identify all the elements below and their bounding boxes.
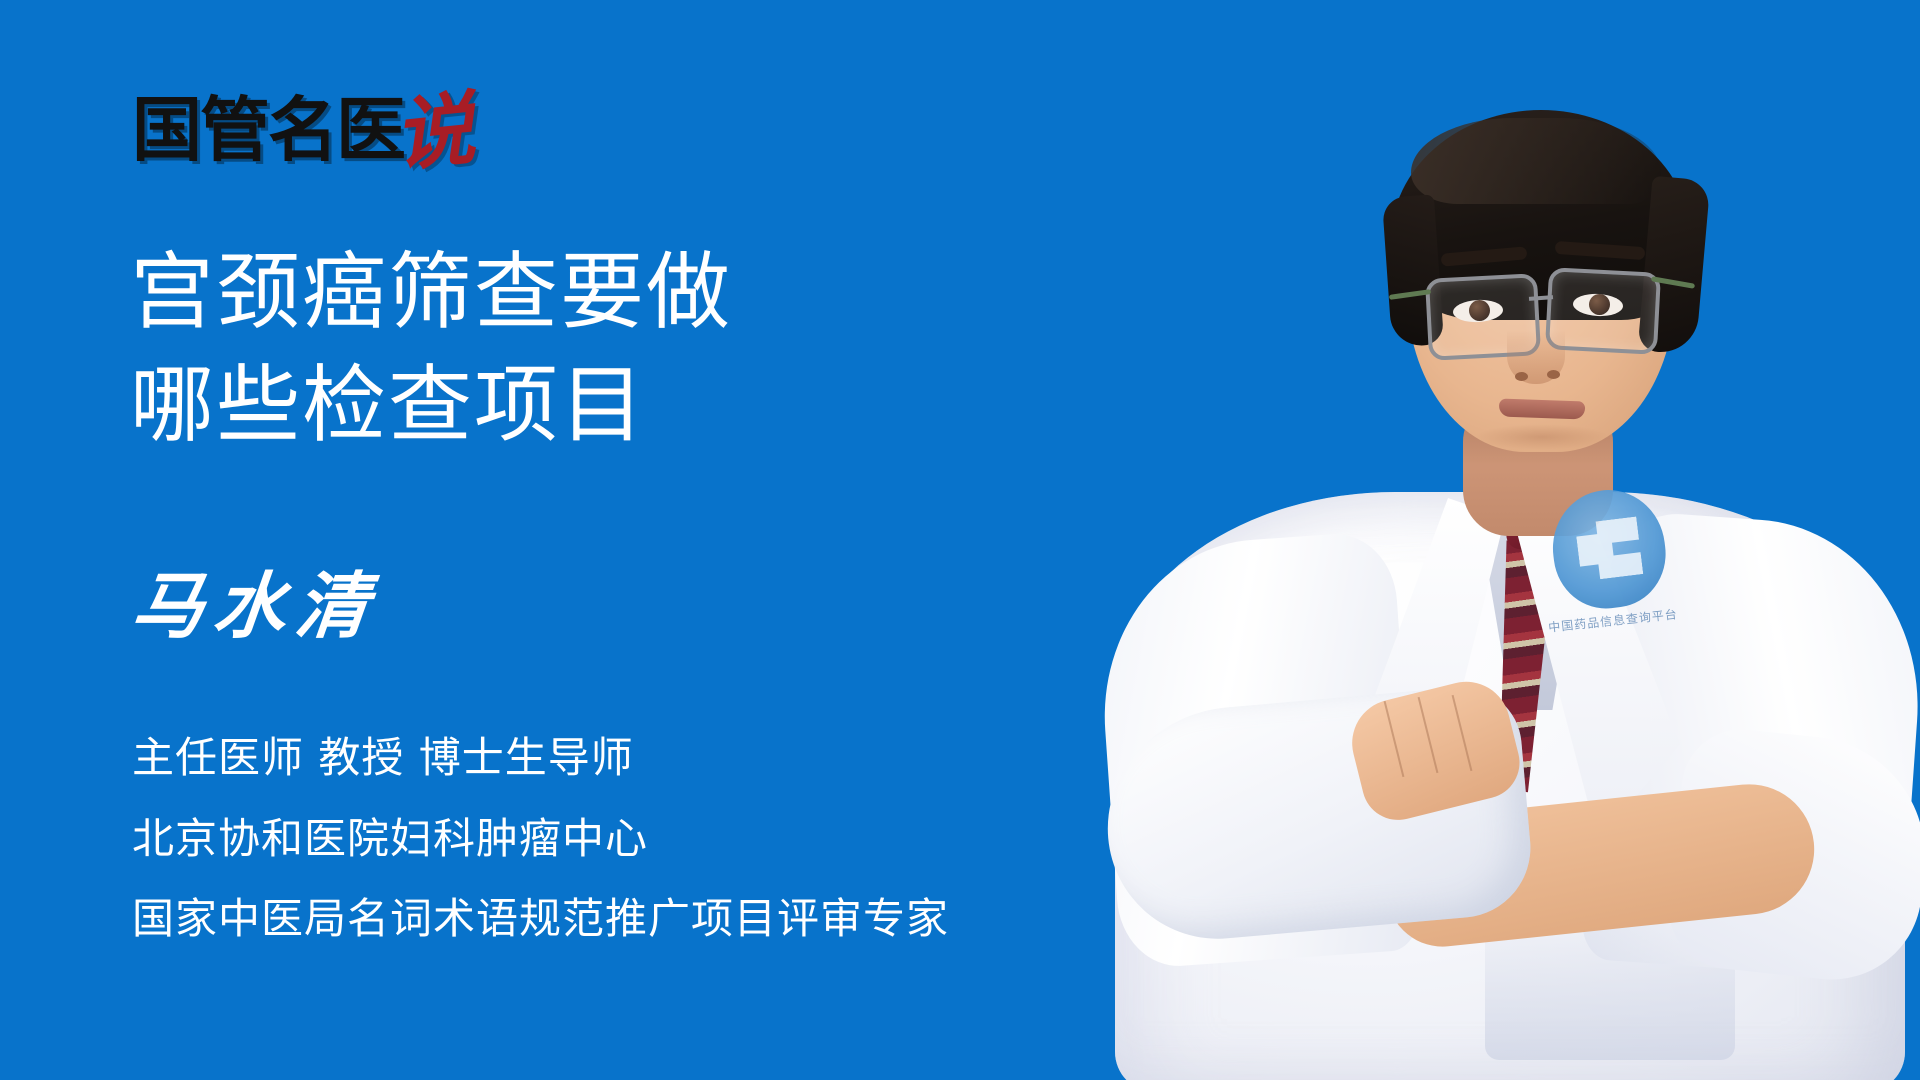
doctor-credential-affiliation: 北京协和医院妇科肿瘤中心: [132, 799, 1132, 880]
page-title: 宫颈癌筛查要做 哪些检查项目: [130, 236, 950, 463]
brand-logo: 国管名医 说: [132, 86, 474, 176]
page-title-line-1: 宫颈癌筛查要做: [130, 236, 950, 349]
chin-shadow: [1475, 424, 1609, 450]
nostril-right: [1547, 370, 1560, 379]
doctor-credential-expert-role: 国家中医局名词术语规范推广项目评审专家: [132, 879, 1132, 960]
brand-logo-main-text: 国管名医: [132, 95, 404, 165]
doctor-portrait-photo: 中国药品信息查询平台: [1055, 0, 1920, 1080]
page-title-line-2: 哪些检查项目: [130, 349, 950, 462]
doctor-credential-title: 主任医师 教授 博士生导师: [132, 718, 1132, 799]
doctor-name: 马水清: [128, 570, 382, 642]
brand-logo-accent-text: 说: [390, 88, 478, 176]
nostril-left: [1515, 372, 1528, 381]
hair-highlight: [1411, 118, 1661, 204]
hospital-badge-glyph: [1575, 516, 1644, 581]
poster-canvas: 国管名医 说 宫颈癌筛查要做 哪些检查项目 马水清 主任医师 教授 博士生导师 …: [0, 0, 1920, 1080]
mouth: [1499, 399, 1586, 420]
doctor-credentials: 主任医师 教授 博士生导师 北京协和医院妇科肿瘤中心 国家中医局名词术语规范推广…: [132, 718, 1132, 960]
